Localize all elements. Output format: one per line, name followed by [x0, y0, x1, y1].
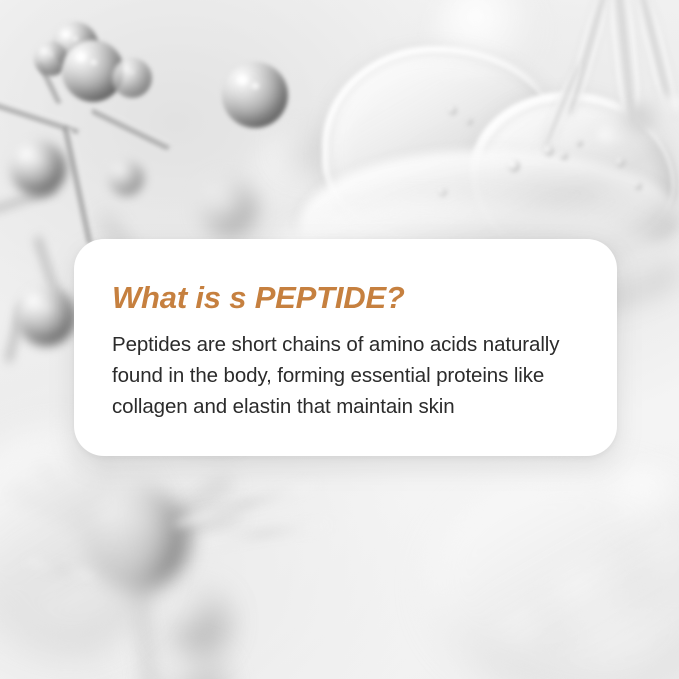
gel-droplet — [634, 182, 642, 190]
gel-droplet — [560, 152, 568, 160]
molecule-sphere — [164, 592, 226, 654]
gel-droplet — [438, 188, 447, 197]
info-card: What is s PEPTIDE? Peptides are short ch… — [74, 239, 617, 456]
molecule-sphere — [112, 58, 152, 98]
card-body-line: Peptides are short chains of amino acids… — [112, 333, 559, 356]
molecule-sphere — [16, 286, 76, 346]
molecule-sphere — [108, 160, 144, 196]
card-body-line: found in the body, forming essential pro… — [112, 364, 544, 387]
card-heading: What is s PEPTIDE? — [112, 281, 573, 315]
molecule-sphere — [222, 62, 288, 128]
molecule-sphere — [10, 140, 66, 196]
card-body-text: Peptides are short chains of amino acids… — [112, 329, 573, 422]
gel-droplet — [544, 146, 554, 156]
gel-droplet — [448, 106, 457, 115]
card-body-line: collagen and elastin that maintain skin — [112, 395, 455, 418]
gel-droplet — [616, 158, 625, 167]
gel-droplet — [508, 160, 520, 172]
marketing-image: What is s PEPTIDE? Peptides are short ch… — [0, 0, 679, 679]
gel-droplet — [466, 118, 473, 125]
molecule-sphere — [200, 180, 256, 236]
gel-droplet — [576, 140, 583, 147]
